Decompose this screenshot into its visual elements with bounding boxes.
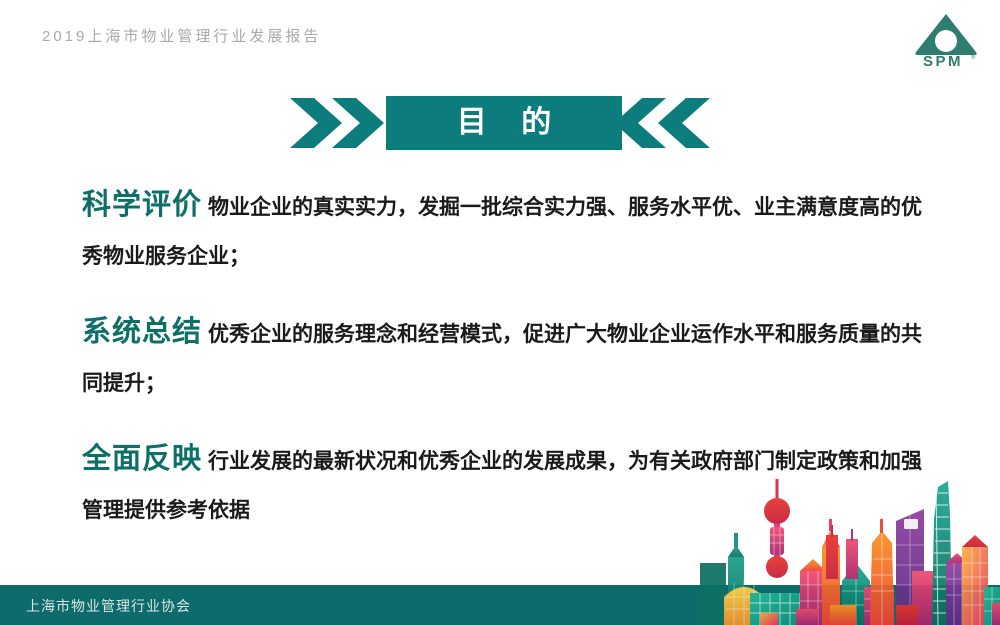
spm-logo: SPM ® bbox=[910, 10, 982, 68]
purpose-item-3-text: 行业发展的最新状况和优秀企业的发展成果，为有关政府部门制定政策和加强管理提供参考… bbox=[82, 449, 922, 522]
footer-organization-name: 上海市物业管理行业协会 bbox=[26, 596, 191, 616]
purpose-item-3: 全面反映行业发展的最新状况和优秀企业的发展成果，为有关政府部门制定政策和加强管理… bbox=[82, 434, 922, 535]
purpose-item-1: 科学评价物业企业的真实实力，发掘一批综合实力强、服务水平优、业主满意度高的优秀物… bbox=[82, 180, 922, 281]
footer-bar: 上海市物业管理行业协会 bbox=[0, 585, 1000, 625]
double-chevron-right-icon bbox=[290, 96, 386, 150]
purpose-item-2-lead: 系统总结 bbox=[82, 314, 202, 348]
spm-trademark-symbol: ® bbox=[971, 54, 976, 61]
purpose-item-1-lead: 科学评价 bbox=[82, 187, 202, 221]
spm-logo-icon: SPM ® bbox=[910, 10, 982, 68]
content-body: 科学评价物业企业的真实实力，发掘一批综合实力强、服务水平优、业主满意度高的优秀物… bbox=[82, 180, 922, 535]
section-title-text: 目 的 bbox=[386, 96, 622, 150]
purpose-item-2-text: 优秀企业的服务理念和经营模式，促进广大物业企业运作水平和服务质量的共同提升； bbox=[82, 322, 922, 395]
purpose-item-3-lead: 全面反映 bbox=[82, 441, 202, 475]
section-title-box: 目 的 bbox=[386, 96, 622, 150]
page-title: 2019上海市物业管理行业发展报告 bbox=[42, 25, 321, 46]
section-title-banner: 目 的 bbox=[290, 96, 710, 150]
purpose-item-1-text: 物业企业的真实实力，发掘一批综合实力强、服务水平优、业主满意度高的优秀物业服务企… bbox=[82, 195, 922, 268]
spm-logo-text: SPM bbox=[923, 53, 963, 68]
double-chevron-left-icon bbox=[622, 96, 710, 150]
purpose-item-2: 系统总结优秀企业的服务理念和经营模式，促进广大物业企业运作水平和服务质量的共同提… bbox=[82, 307, 922, 408]
slide: 2019上海市物业管理行业发展报告 SPM ® 目 的 科学评价物业企业的真实实… bbox=[0, 0, 1000, 625]
